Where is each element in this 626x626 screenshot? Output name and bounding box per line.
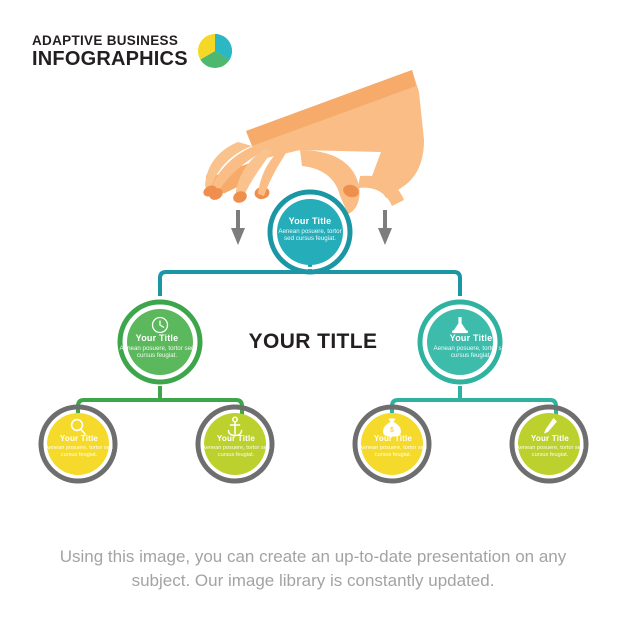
node-mid-left[interactable]	[120, 302, 200, 382]
diagram-canvas: $	[0, 0, 626, 626]
node-mid-right[interactable]	[420, 302, 500, 382]
node-root[interactable]	[270, 192, 350, 272]
arrow-down-icon	[378, 210, 392, 245]
node-leaf-0[interactable]	[41, 407, 115, 481]
page-title: YOUR TITLE	[243, 330, 383, 354]
node-leaf-2[interactable]: $	[355, 407, 429, 481]
infographic-slide: ADAPTIVE BUSINESS INFOGRAPHICS	[0, 0, 626, 626]
caption-text: Using this image, you can create an up-t…	[40, 545, 586, 593]
node-leaf-3[interactable]	[512, 407, 586, 481]
arrow-down-icon	[231, 210, 245, 245]
node-leaf-1[interactable]	[198, 407, 272, 481]
money-bag-symbol: $	[390, 427, 394, 434]
